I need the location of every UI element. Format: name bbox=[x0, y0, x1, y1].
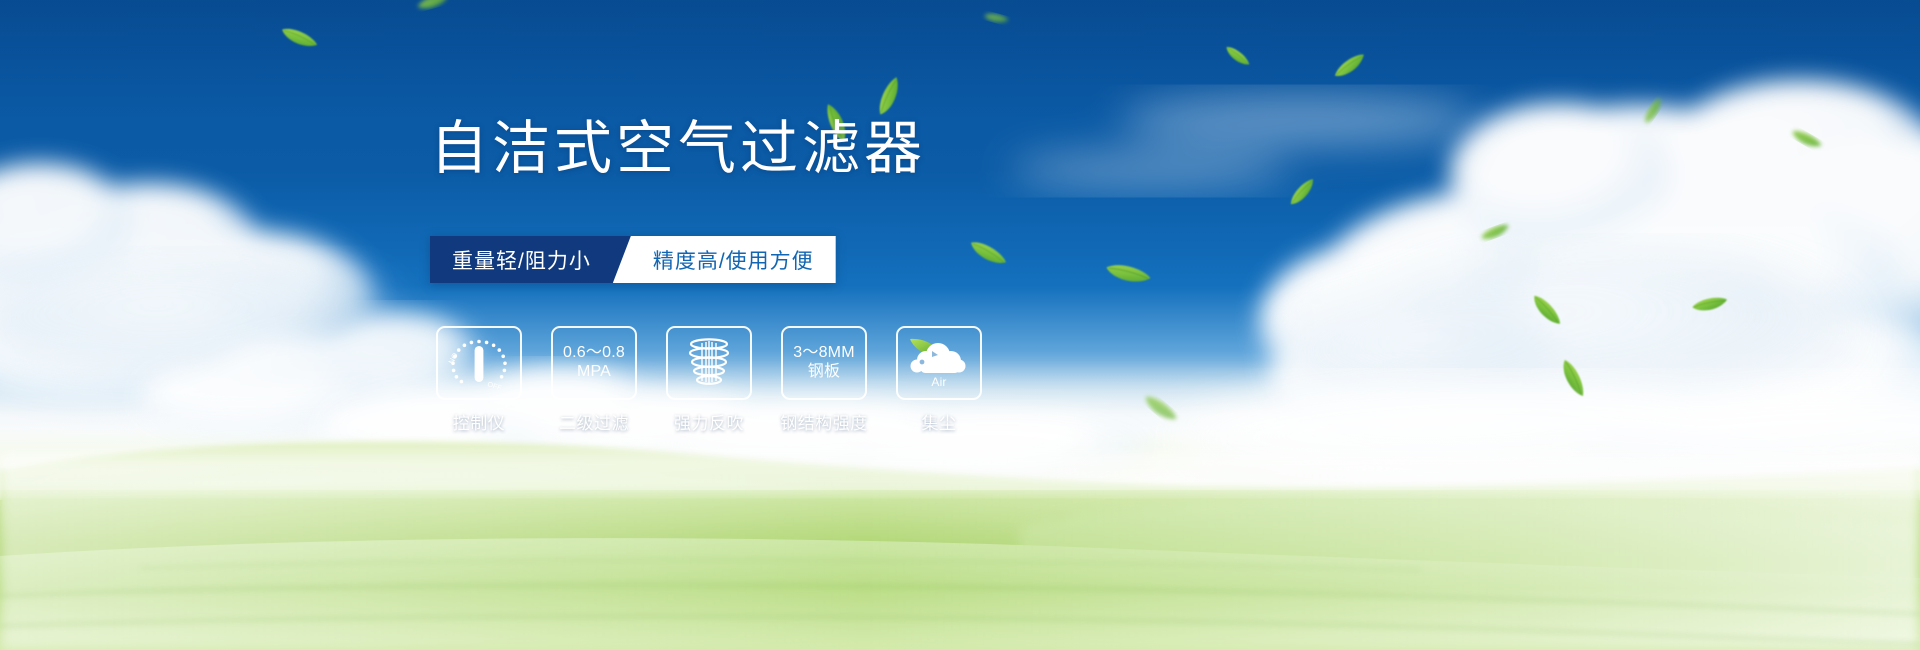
feature-item-controller[interactable]: NO OFF 控制仪 bbox=[436, 326, 522, 434]
svg-text:OFF: OFF bbox=[486, 381, 502, 391]
feature-box-controller: NO OFF bbox=[436, 326, 522, 400]
feature-caption-steel-strength: 钢结构强度 bbox=[780, 409, 868, 434]
feature-box-steel-strength: 3〜8MM 钢板 bbox=[781, 326, 867, 400]
steel-thickness-value: 3〜8MM bbox=[793, 344, 854, 363]
feature-item-steel-strength[interactable]: 3〜8MM 钢板 钢结构强度 bbox=[781, 326, 867, 434]
feature-caption-controller: 控制仪 bbox=[453, 409, 506, 434]
feature-caption-back-blow: 强力反吹 bbox=[674, 409, 744, 434]
filter-coil-icon bbox=[681, 335, 737, 391]
feature-item-two-stage-filter[interactable]: 0.6〜0.8 MPA 二级过滤 bbox=[551, 326, 637, 434]
tag-lightweight-low-resistance[interactable]: 重量轻/阻力小 bbox=[430, 236, 631, 283]
feature-caption-two-stage-filter: 二级过滤 bbox=[559, 409, 629, 434]
feature-item-dust-collection[interactable]: Air 集尘 bbox=[896, 326, 982, 434]
pressure-unit-value: MPA bbox=[577, 363, 611, 382]
page-title: 自洁式空气过滤器 bbox=[430, 120, 926, 178]
air-label: Air bbox=[931, 375, 946, 389]
tag-banner: 重量轻/阻力小 精度高/使用方便 bbox=[430, 236, 836, 283]
banner-stage: 自洁式空气过滤器 重量轻/阻力小 精度高/使用方便 bbox=[0, 0, 1920, 650]
banner-content: 自洁式空气过滤器 重量轻/阻力小 精度高/使用方便 bbox=[0, 0, 1920, 650]
feature-item-back-blow[interactable]: 强力反吹 bbox=[666, 326, 752, 434]
tag-high-precision-easy-use[interactable]: 精度高/使用方便 bbox=[613, 236, 836, 283]
svg-text:NO: NO bbox=[448, 351, 460, 366]
feature-box-dust-collection: Air bbox=[896, 326, 982, 400]
steel-plate-label: 钢板 bbox=[808, 363, 840, 382]
feature-box-back-blow bbox=[666, 326, 752, 400]
feature-caption-dust-collection: 集尘 bbox=[922, 409, 957, 434]
cloud-air-icon: Air bbox=[906, 335, 972, 391]
pressure-range-value: 0.6〜0.8 bbox=[563, 344, 625, 363]
gauge-dial-icon: NO OFF bbox=[448, 335, 510, 391]
feature-box-two-stage-filter: 0.6〜0.8 MPA bbox=[551, 326, 637, 400]
feature-icon-row: NO OFF 控制仪 0.6〜0.8 MPA 二级过滤 bbox=[436, 326, 982, 434]
